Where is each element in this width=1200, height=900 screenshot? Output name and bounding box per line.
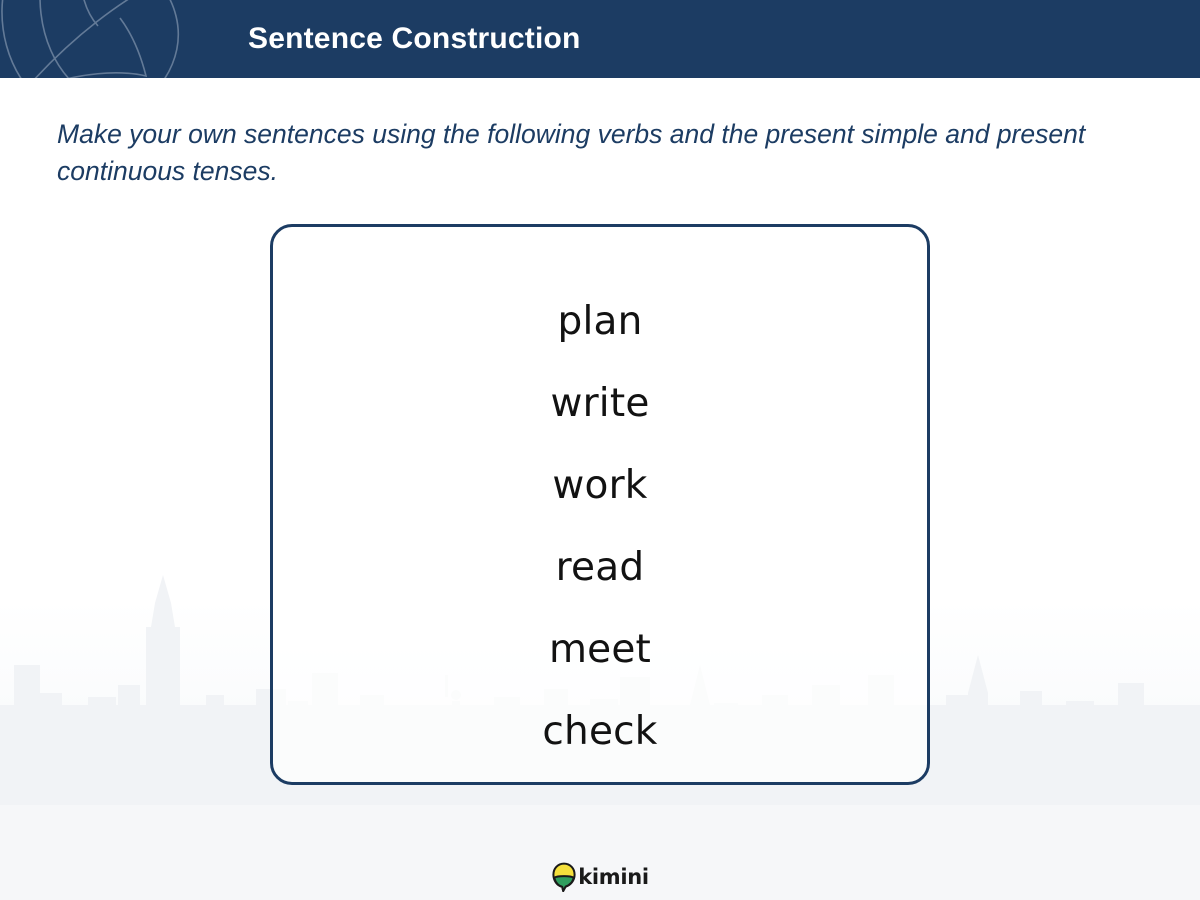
header-bar: Sentence Construction xyxy=(0,0,1200,78)
footer-brand: kimini xyxy=(0,858,1200,896)
verb-item-read: read xyxy=(273,527,927,609)
verb-item-plan: plan xyxy=(273,281,927,363)
verb-item-work: work xyxy=(273,445,927,527)
kimini-wordmark: kimini xyxy=(578,865,649,889)
verb-list: plan write work read meet check xyxy=(273,281,927,773)
instruction-text: Make your own sentences using the follow… xyxy=(57,116,1117,190)
verb-item-write: write xyxy=(273,363,927,445)
kimini-swirl-watermark-icon xyxy=(0,0,210,78)
verb-item-check: check xyxy=(273,691,927,773)
verb-list-box: plan write work read meet check xyxy=(270,224,930,785)
kimini-balloon-icon xyxy=(551,862,577,892)
slide-canvas: Sentence Construction Make your own sent… xyxy=(0,0,1200,900)
verb-item-meet: meet xyxy=(273,609,927,691)
page-title: Sentence Construction xyxy=(248,0,581,78)
